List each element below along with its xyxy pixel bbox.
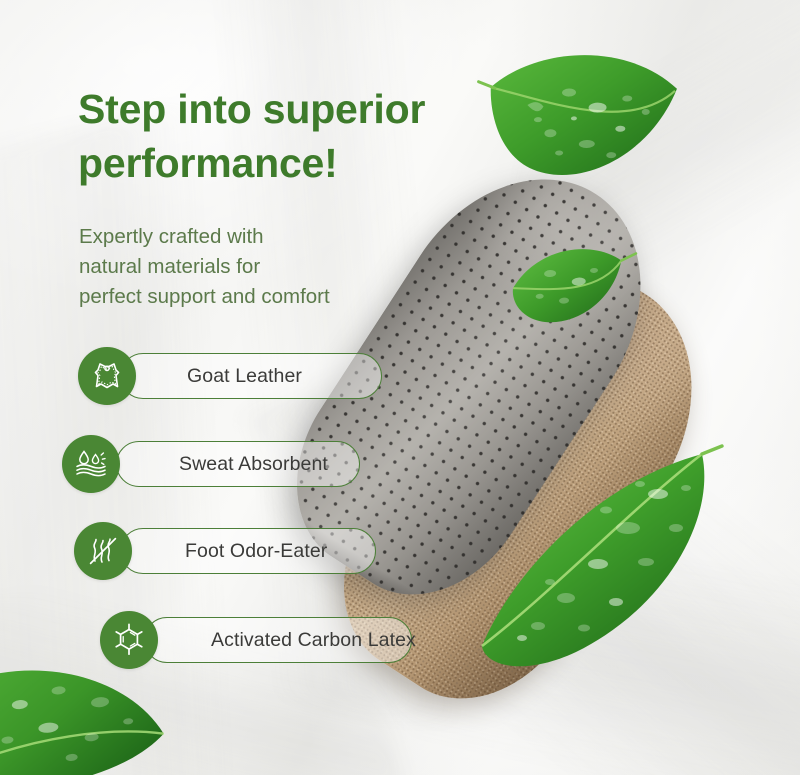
water-drop-layers-icon (62, 435, 120, 493)
leather-hide-icon (78, 347, 136, 405)
feature-label: Goat Leather (187, 365, 302, 388)
headline-line-2: performance! (78, 136, 508, 190)
subheadline: Expertly crafted with natural materials … (79, 222, 439, 312)
headline: Step into superior performance! (78, 82, 508, 190)
subheadline-line-2: natural materials for (79, 252, 439, 282)
subheadline-line-1: Expertly crafted with (79, 222, 439, 252)
feature-pill: Sweat Absorbent (116, 441, 360, 487)
subheadline-line-3: perfect support and comfort (79, 282, 439, 312)
leaf-icon (480, 432, 730, 682)
leaf-icon (476, 44, 696, 196)
feature-pill: Foot Odor-Eater (120, 528, 376, 574)
benzene-hexagon-icon (100, 611, 158, 669)
product-banner: Step into superior performance! Expertly… (0, 0, 800, 775)
feature-pill: Activated Carbon Latex (144, 617, 412, 663)
headline-line-1: Step into superior (78, 82, 508, 136)
odor-lines-crossed-icon (74, 522, 132, 580)
feature-label: Foot Odor-Eater (185, 540, 327, 563)
feature-label: Activated Carbon Latex (211, 629, 416, 652)
feature-pill: Goat Leather (120, 353, 382, 399)
feature-label: Sweat Absorbent (179, 453, 328, 476)
leaf-icon (502, 233, 643, 337)
